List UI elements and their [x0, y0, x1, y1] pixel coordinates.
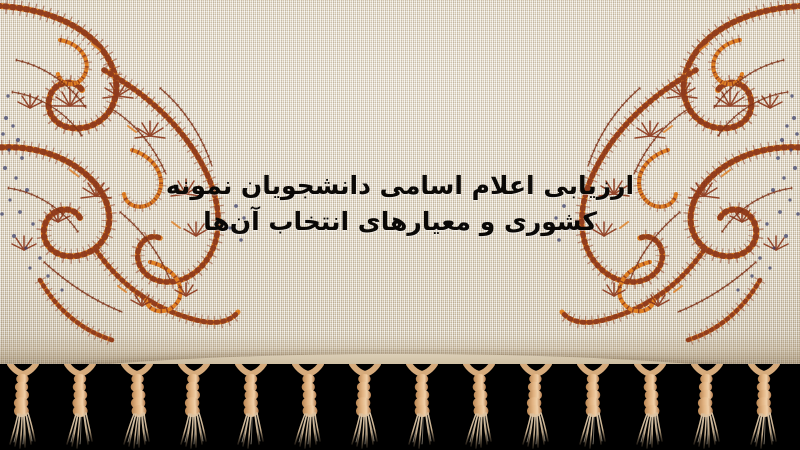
tassel: [234, 364, 268, 450]
tassel: [747, 364, 781, 450]
tassel: [633, 364, 667, 450]
tassel: [291, 364, 325, 450]
tassel: [177, 364, 211, 450]
tassel-fringe: [0, 364, 800, 450]
tassel: [405, 364, 439, 450]
tassel: [576, 364, 610, 450]
tassel: [6, 364, 40, 450]
slide-canvas: ارزیابی اعلام اسامی دانشجویان نمونه کشور…: [0, 0, 800, 450]
title-line-1: ارزیابی اعلام اسامی دانشجویان نمونه: [0, 168, 800, 204]
tassel: [348, 364, 382, 450]
tassel: [120, 364, 154, 450]
tassel: [63, 364, 97, 450]
tassel: [462, 364, 496, 450]
tassel: [519, 364, 553, 450]
tassel: [690, 364, 724, 450]
title-line-2: کشوری و معیارهای انتخاب آن‌ها: [0, 204, 800, 240]
slide-title: ارزیابی اعلام اسامی دانشجویان نمونه کشور…: [0, 168, 800, 240]
